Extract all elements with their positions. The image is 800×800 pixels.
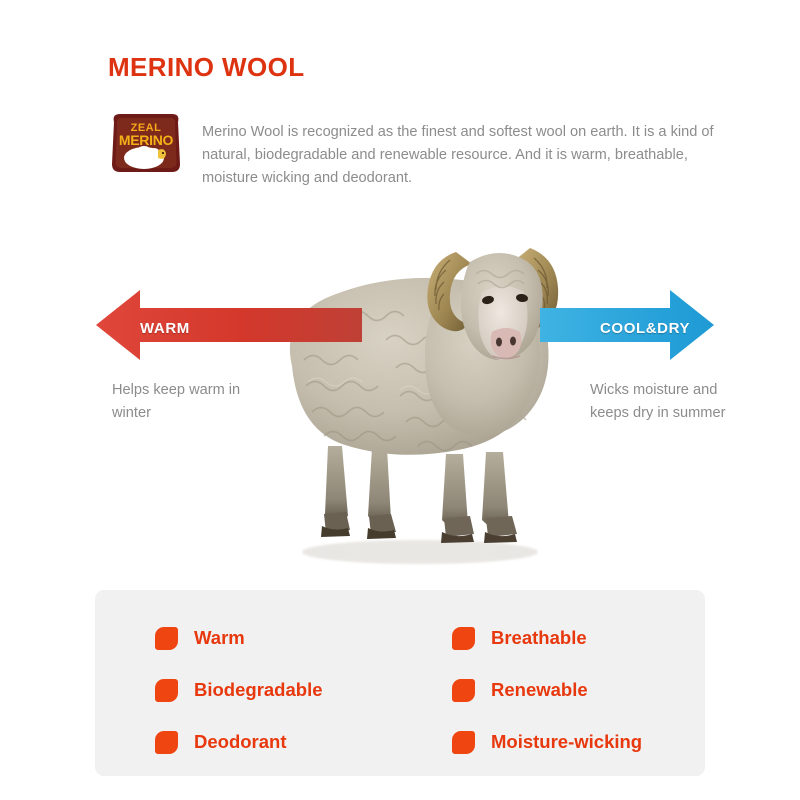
- feature-panel: Warm Biodegradable Deodorant Breathable …: [95, 590, 705, 776]
- feature-column-right: Breathable Renewable Moisture-wicking: [452, 612, 642, 768]
- zeal-merino-logo: ZEAL MERINO: [108, 110, 184, 176]
- intro-paragraph: Merino Wool is recognized as the finest …: [202, 121, 714, 190]
- leaf-bullet-icon: [452, 731, 475, 754]
- feature-column-left: Warm Biodegradable Deodorant: [155, 612, 323, 768]
- leaf-bullet-icon: [155, 731, 178, 754]
- feature-label: Renewable: [491, 679, 588, 701]
- svg-text:MERINO: MERINO: [119, 132, 174, 148]
- leaf-bullet-icon: [155, 627, 178, 650]
- logo-badge-icon: ZEAL MERINO: [108, 110, 184, 176]
- feature-item-breathable: Breathable: [452, 612, 642, 664]
- feature-label: Breathable: [491, 627, 587, 649]
- feature-item-deodorant: Deodorant: [155, 716, 323, 768]
- leaf-bullet-icon: [452, 679, 475, 702]
- infographic-page: MERINO WOOL ZEAL MERINO Merino Wool is r…: [0, 0, 800, 800]
- leaf-bullet-icon: [452, 627, 475, 650]
- warm-caption: Helps keep warm in winter: [112, 379, 272, 425]
- cooldry-arrow-label: COOL&DRY: [600, 320, 690, 337]
- feature-label: Warm: [194, 627, 245, 649]
- feature-item-biodegradable: Biodegradable: [155, 664, 323, 716]
- warm-arrow-label: WARM: [140, 320, 190, 337]
- page-title: MERINO WOOL: [108, 52, 305, 83]
- feature-item-warm: Warm: [155, 612, 323, 664]
- feature-label: Deodorant: [194, 731, 287, 753]
- feature-label: Biodegradable: [194, 679, 323, 701]
- merino-ram-photo: [220, 196, 610, 576]
- arrow-left-icon: [92, 286, 362, 364]
- leaf-bullet-icon: [155, 679, 178, 702]
- warm-arrow[interactable]: [92, 286, 362, 364]
- feature-item-moisture-wicking: Moisture-wicking: [452, 716, 642, 768]
- feature-label: Moisture-wicking: [491, 731, 642, 753]
- cooldry-caption: Wicks moisture and keeps dry in summer: [590, 379, 740, 425]
- feature-item-renewable: Renewable: [452, 664, 642, 716]
